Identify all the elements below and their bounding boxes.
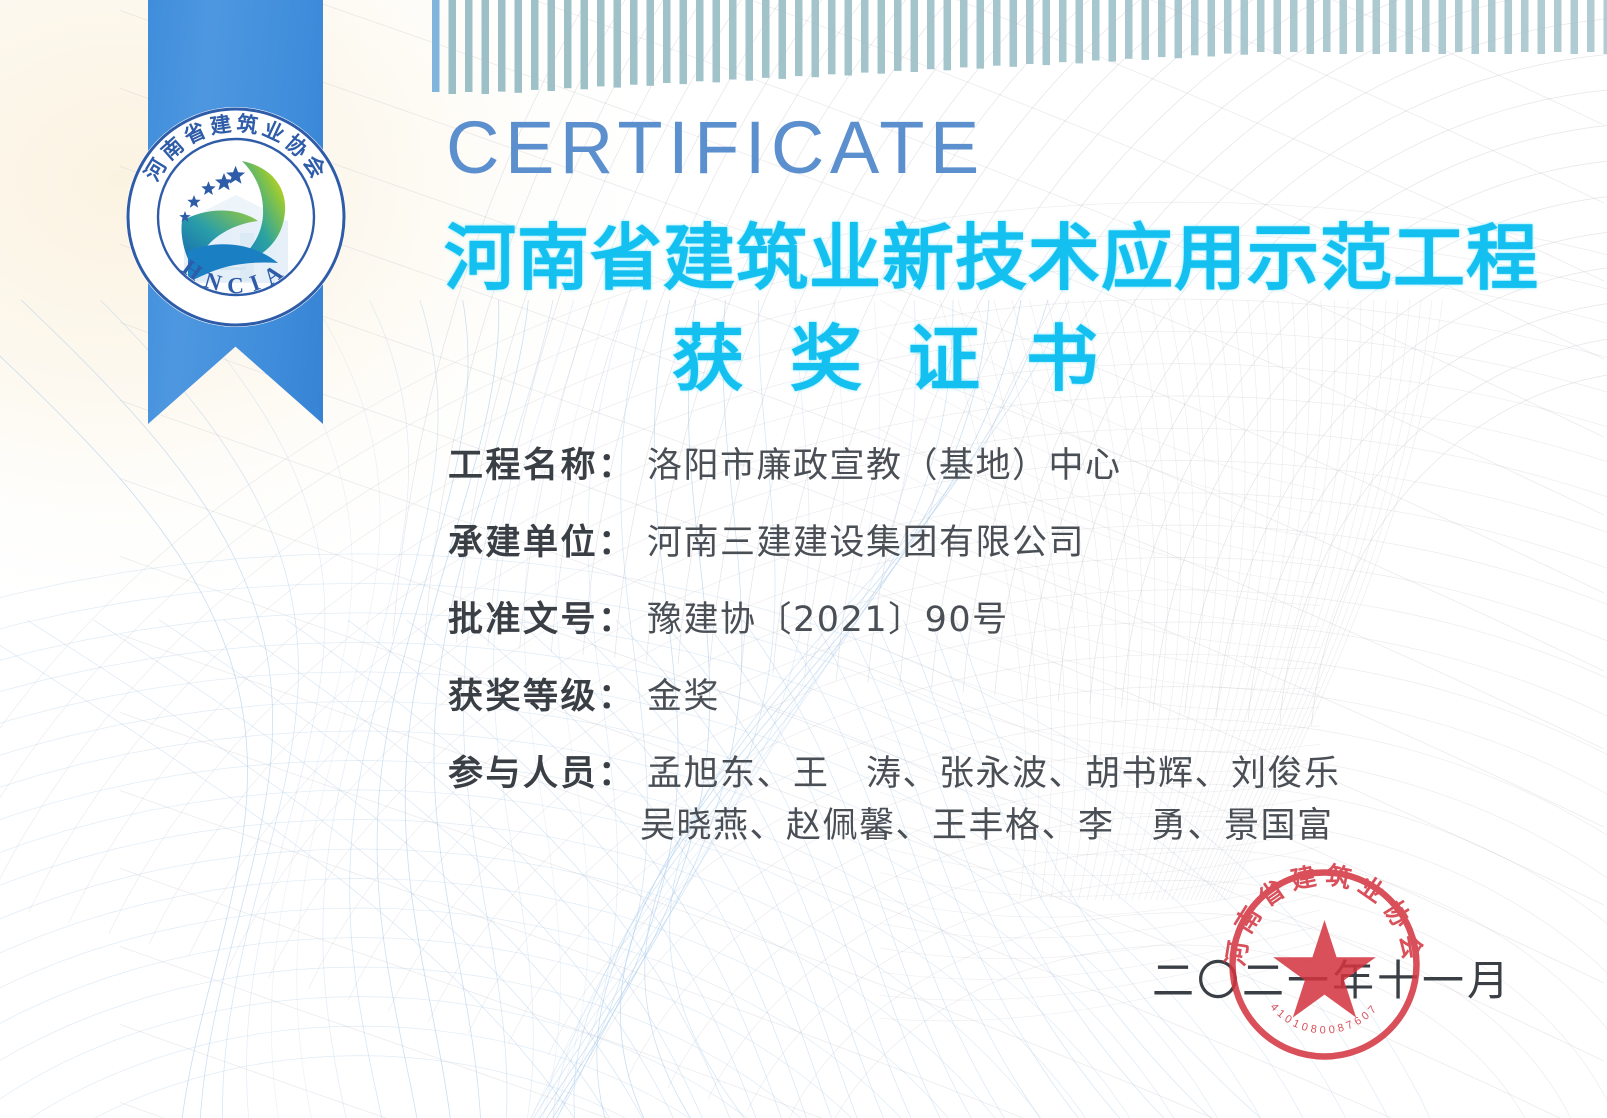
field-colon: ： [598,437,633,488]
field-colon: ： [598,591,633,642]
title-line-2: 获奖证书 [672,300,1144,405]
field-label: 批准文号 [448,591,598,642]
field-value: 豫建协〔2021〕90号 [647,591,1009,642]
field-value: 河南三建建设集团有限公司 [647,514,1085,565]
field-list: 工程名称 ： 洛阳市廉政宣教（基地）中心 承建单位 ： 河南三建建设集团有限公司… [448,437,1448,822]
svg-text:4101080087607: 4101080087607 [1268,1001,1382,1036]
field-value: 洛阳市廉政宣教（基地）中心 [647,437,1122,488]
hncia-logo: 河南省建筑业协会 HNCIA [122,103,350,331]
field-colon: ： [598,668,633,719]
field-value: 金奖 [647,668,720,719]
english-heading: CERTIFICATE [446,105,985,190]
field-label: 工程名称 [448,437,598,488]
field-value: 孟旭东、王 涛、张永波、胡书辉、刘俊乐 [647,745,1341,796]
field-label: 参与人员 [448,745,598,796]
certificate-page: 河南省建筑业协会 HNCIA CERTIFICATE 河南省建筑业新技术应用示范… [0,0,1607,1118]
field-colon: ： [598,514,633,565]
field-row-contractor: 承建单位 ： 河南三建建设集团有限公司 [448,514,1448,591]
official-seal: 河南省建筑业协会 4101080087607 [1222,862,1427,1067]
seal-star [1273,920,1376,1018]
field-row-award-grade: 获奖等级 ： 金奖 [448,668,1448,745]
field-label: 获奖等级 [448,668,598,719]
field-row-approval-number: 批准文号 ： 豫建协〔2021〕90号 [448,591,1448,668]
field-colon: ： [598,745,633,796]
title-line-1: 河南省建筑业新技术应用示范工程 [444,199,1539,304]
participants-line-2: 吴晓燕、赵佩馨、王丰格、李 勇、景国富 [640,797,1334,848]
field-row-project-name: 工程名称 ： 洛阳市廉政宣教（基地）中心 [448,437,1448,514]
field-label: 承建单位 [448,514,598,565]
